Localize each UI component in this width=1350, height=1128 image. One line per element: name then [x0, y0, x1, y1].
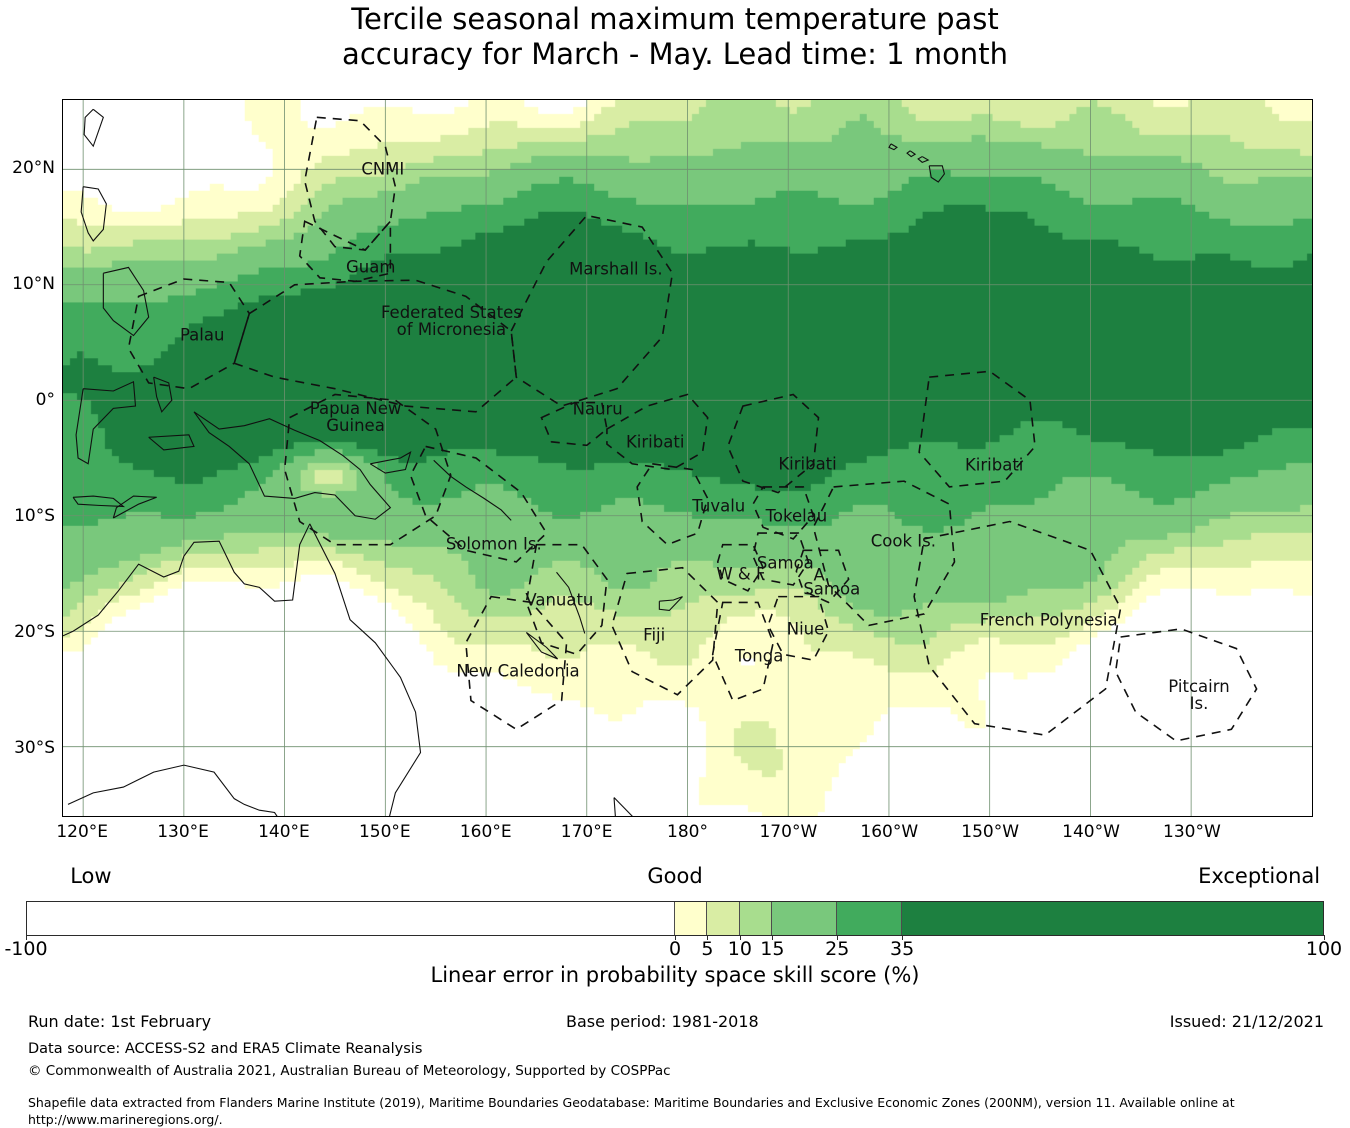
longitude-tick-label: 130°E: [157, 822, 209, 842]
coastline: [81, 187, 106, 241]
eez-samoa: [753, 533, 808, 585]
colorbar-segment: [772, 902, 837, 935]
longitude-tick-label: 120°E: [56, 822, 108, 842]
copyright-notice: © Commonwealth of Australia 2021, Austra…: [28, 1063, 671, 1079]
coastline: [149, 435, 194, 450]
colorbar-tick-label: 15: [760, 938, 784, 960]
longitude-tick-label: 160°W: [860, 822, 918, 842]
colorbar-label: Linear error in probability space skill …: [0, 963, 1350, 987]
longitude-tick-label: 160°E: [460, 822, 512, 842]
eez-american-samoa: [796, 550, 848, 602]
colorbar-segment: [902, 902, 1323, 935]
eez-tonga: [713, 602, 774, 700]
eez-new-caledonia: [466, 597, 567, 730]
eez-tuvalu: [637, 464, 707, 545]
longitude-tick-label: 170°W: [759, 822, 817, 842]
eez-png: [285, 394, 451, 544]
colorbar-tick-label: 100: [1306, 938, 1342, 960]
longitude-tick-label: 130°W: [1163, 822, 1221, 842]
coastline: [557, 572, 585, 633]
colorbar-tick-label: -100: [4, 938, 47, 960]
eez-palau: [128, 279, 249, 389]
eez-pitcairn: [1116, 629, 1257, 741]
coastline: [113, 496, 156, 518]
longitude-tick-label: 140°E: [258, 822, 310, 842]
coastline: [84, 109, 103, 146]
base-period: Base period: 1981-2018: [566, 1012, 759, 1031]
colorbar-segment: [837, 902, 902, 935]
issued-date: Issued: 21/12/2021: [1170, 1012, 1324, 1031]
coastline: [929, 166, 944, 182]
eez-kiribati-line: [919, 371, 1035, 487]
colorbar-segment: [707, 902, 739, 935]
coastline: [194, 412, 390, 519]
colorbar-category-label: Exceptional: [1198, 864, 1320, 888]
eez-fsm: [234, 280, 516, 412]
footer: Run date: 1st February Base period: 1981…: [0, 1012, 1350, 1038]
eez-kiribati-phoenix: [728, 394, 819, 492]
latitude-tick-label: 20°S: [14, 622, 55, 642]
coastline: [526, 632, 557, 659]
coastline: [63, 524, 310, 636]
coastline: [154, 377, 172, 412]
coastline: [76, 382, 135, 464]
coastline: [73, 496, 123, 506]
latitude-tick-label: 0°: [36, 390, 55, 410]
coastline: [889, 144, 897, 150]
map-axes: CNMIGuamMarshall Is.Federated States of …: [62, 99, 1313, 817]
eez-solomon: [411, 446, 547, 561]
colorbar-category-label: Low: [70, 864, 111, 888]
longitude-tick-label: 150°W: [961, 822, 1019, 842]
eez-kiribati-gilbert: [607, 394, 708, 469]
eez-cnmi: [305, 117, 396, 250]
longitude-tick-label: 180°: [667, 822, 708, 842]
eez-nauru: [541, 403, 606, 446]
colorbar-segment: [27, 902, 675, 935]
map-vector-overlay: [63, 100, 1312, 816]
forecast-map-page: Tercile seasonal maximum temperature pas…: [0, 0, 1350, 1125]
colorbar-tick-label: 0: [669, 938, 681, 960]
latitude-tick-label: 20°N: [12, 158, 55, 178]
data-source: Data source: ACCESS-S2 and ERA5 Climate …: [28, 1041, 422, 1057]
shapefile-attribution: Shapefile data extracted from Flanders M…: [28, 1094, 1328, 1128]
colorbar-category-labels: LowGoodExceptional: [0, 864, 1350, 890]
eez-french-polynesia: [914, 522, 1120, 736]
latitude-tick-label: 10°N: [12, 274, 55, 294]
coastline: [907, 151, 915, 157]
colorbar-segment: [675, 902, 707, 935]
eez-vanuatu: [526, 545, 607, 655]
eez-marshall: [511, 215, 672, 406]
run-date: Run date: 1st February: [28, 1012, 211, 1031]
eez-cook: [813, 481, 954, 625]
colorbar-tick-label: 10: [728, 938, 752, 960]
colorbar-category-label: Good: [647, 864, 702, 888]
colorbar: [26, 901, 1324, 936]
eez-wallis-futuna: [718, 545, 763, 591]
eez-guam: [300, 221, 391, 281]
longitude-tick-label: 170°E: [561, 822, 613, 842]
coastline: [659, 597, 682, 611]
page-title: Tercile seasonal maximum temperature pas…: [0, 2, 1350, 72]
coastline: [918, 157, 928, 163]
colorbar-tick-label: 5: [701, 938, 713, 960]
colorbar-segment: [740, 902, 772, 935]
colorbar-tick-label: 35: [890, 938, 914, 960]
coastline: [68, 524, 421, 816]
colorbar-ticks: -1000510152535100: [0, 938, 1350, 964]
longitude-tick-label: 140°W: [1062, 822, 1120, 842]
coastline: [614, 798, 667, 816]
latitude-tick-label: 30°S: [14, 738, 55, 758]
coastline: [370, 452, 410, 473]
latitude-tick-label: 10°S: [14, 506, 55, 526]
footer-row-primary: Run date: 1st February Base period: 1981…: [0, 1012, 1350, 1038]
colorbar-tick-label: 25: [825, 938, 849, 960]
eez-tokelau: [753, 487, 813, 539]
eez-niue: [768, 597, 828, 661]
coastline: [103, 267, 148, 335]
longitude-tick-label: 150°E: [359, 822, 411, 842]
